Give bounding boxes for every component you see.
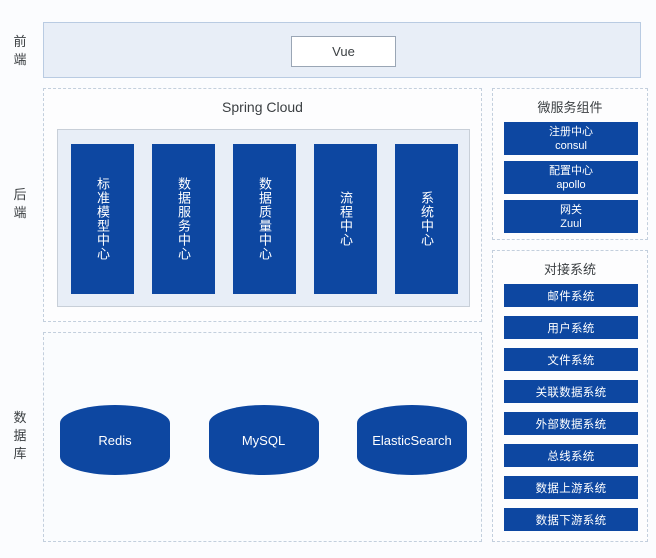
database-cylinder-mysql[interactable]: MySQL xyxy=(209,405,319,475)
tier-label-frontend-char-1: 端 xyxy=(0,51,40,69)
docking-item-label: 文件系统 xyxy=(547,352,594,368)
tier-label-database-char-2: 库 xyxy=(0,445,40,463)
microservice-item-impl: Zuul xyxy=(560,217,581,231)
frontend-tier-band: Vue xyxy=(43,22,641,78)
database-cylinder-label: MySQL xyxy=(242,433,285,448)
database-cylinder-elasticsearch[interactable]: ElasticSearch xyxy=(357,405,467,475)
tier-label-database: 数 据 库 xyxy=(0,409,40,463)
service-box-process-center[interactable]: 流程中心 xyxy=(314,144,377,294)
docking-item-related-data-system[interactable]: 关联数据系统 xyxy=(504,380,638,403)
architecture-diagram: 前 端 后 端 数 据 库 Vue Spring Cloud 标准模型中心 数据… xyxy=(0,0,656,558)
microservice-components-title: 微服务组件 xyxy=(493,97,647,116)
spring-cloud-title: Spring Cloud xyxy=(44,99,481,115)
docking-item-label: 总线系统 xyxy=(547,448,594,464)
docking-item-label: 外部数据系统 xyxy=(536,416,607,432)
database-cylinder-redis[interactable]: Redis xyxy=(60,405,170,475)
microservice-item-impl: consul xyxy=(555,139,587,153)
service-box-label: 标准模型中心 xyxy=(94,177,111,261)
microservice-item-name: 网关 xyxy=(560,203,582,217)
service-box-label: 系统中心 xyxy=(418,191,435,247)
service-center-row: 标准模型中心 数据服务中心 数据质量中心 流程中心 系统中心 xyxy=(71,144,458,294)
docking-item-upstream-data-system[interactable]: 数据上游系统 xyxy=(504,476,638,499)
docking-item-mail-system[interactable]: 邮件系统 xyxy=(504,284,638,307)
tier-label-backend-char-0: 后 xyxy=(0,186,40,204)
tier-label-database-char-1: 据 xyxy=(0,427,40,445)
microservice-item-gateway[interactable]: 网关 Zuul xyxy=(504,200,638,233)
microservice-item-registry[interactable]: 注册中心 consul xyxy=(504,122,638,155)
docking-item-label: 用户系统 xyxy=(547,320,594,336)
docking-item-label: 数据下游系统 xyxy=(536,512,607,528)
service-box-system-center[interactable]: 系统中心 xyxy=(395,144,458,294)
database-cylinder-label: ElasticSearch xyxy=(372,433,451,448)
docking-item-label: 数据上游系统 xyxy=(536,480,607,496)
service-box-data-service-center[interactable]: 数据服务中心 xyxy=(152,144,215,294)
database-store-row: Redis MySQL ElasticSearch xyxy=(60,405,467,475)
docking-item-label: 关联数据系统 xyxy=(536,384,607,400)
tier-label-backend: 后 端 xyxy=(0,186,40,222)
service-box-label: 数据质量中心 xyxy=(256,177,273,261)
docking-systems-title: 对接系统 xyxy=(493,259,647,278)
microservice-components-list: 注册中心 consul 配置中心 apollo 网关 Zuul xyxy=(504,122,638,239)
frontend-app-vue-box[interactable]: Vue xyxy=(291,36,396,67)
microservice-components-panel: 微服务组件 注册中心 consul 配置中心 apollo 网关 Zuul xyxy=(492,88,648,240)
docking-item-file-system[interactable]: 文件系统 xyxy=(504,348,638,371)
spring-cloud-container: Spring Cloud 标准模型中心 数据服务中心 数据质量中心 流程中心 系… xyxy=(43,88,482,322)
service-box-label: 流程中心 xyxy=(337,191,354,247)
tier-label-frontend: 前 端 xyxy=(0,33,40,69)
docking-item-bus-system[interactable]: 总线系统 xyxy=(504,444,638,467)
docking-item-downstream-data-system[interactable]: 数据下游系统 xyxy=(504,508,638,531)
database-cylinder-label: Redis xyxy=(98,433,131,448)
tier-label-frontend-char-0: 前 xyxy=(0,33,40,51)
microservice-item-config[interactable]: 配置中心 apollo xyxy=(504,161,638,194)
docking-item-user-system[interactable]: 用户系统 xyxy=(504,316,638,339)
service-box-standard-model-center[interactable]: 标准模型中心 xyxy=(71,144,134,294)
frontend-app-vue-label: Vue xyxy=(332,44,355,59)
docking-systems-panel: 对接系统 邮件系统 用户系统 文件系统 关联数据系统 外部数据系统 总线系统 数… xyxy=(492,250,648,542)
microservice-item-impl: apollo xyxy=(556,178,585,192)
service-box-data-quality-center[interactable]: 数据质量中心 xyxy=(233,144,296,294)
tier-label-backend-char-1: 端 xyxy=(0,204,40,222)
database-tier-container: Redis MySQL ElasticSearch xyxy=(43,332,482,542)
microservice-item-name: 配置中心 xyxy=(549,164,593,178)
docking-item-label: 邮件系统 xyxy=(547,288,594,304)
docking-systems-list: 邮件系统 用户系统 文件系统 关联数据系统 外部数据系统 总线系统 数据上游系统… xyxy=(504,284,638,540)
microservice-item-name: 注册中心 xyxy=(549,125,593,139)
service-box-label: 数据服务中心 xyxy=(175,177,192,261)
spring-cloud-inner-panel: 标准模型中心 数据服务中心 数据质量中心 流程中心 系统中心 xyxy=(57,129,470,307)
docking-item-external-data-system[interactable]: 外部数据系统 xyxy=(504,412,638,435)
tier-label-database-char-0: 数 xyxy=(0,409,40,427)
